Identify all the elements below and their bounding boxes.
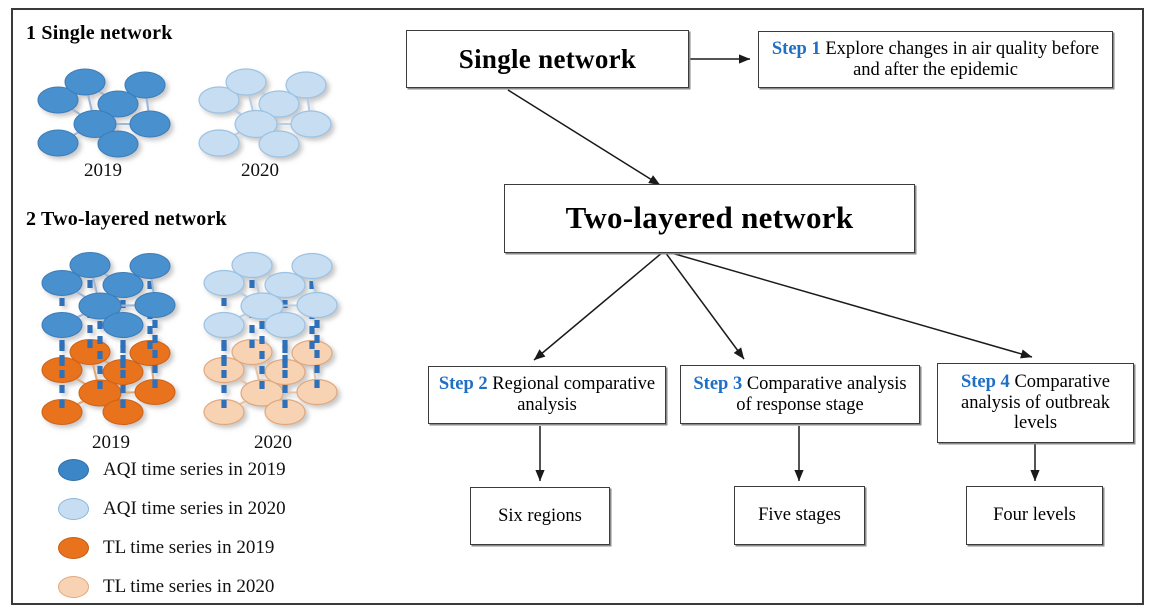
step3-number: Step 3 — [693, 374, 742, 394]
box-four-levels[interactable]: Four levels — [966, 486, 1103, 545]
legend-label-aqi-2020: AQI time series in 2020 — [103, 498, 286, 520]
legend-label-tl-2019: TL time series in 2019 — [103, 537, 274, 559]
legend-swatch-tl-2020 — [58, 576, 89, 598]
box-five-stages[interactable]: Five stages — [734, 486, 865, 545]
year-label-single-2019: 2019 — [58, 160, 148, 182]
step2-text: Regional comparative analysis — [488, 374, 655, 415]
year-label-layered-2020: 2020 — [228, 432, 318, 454]
step4-number: Step 4 — [961, 372, 1010, 392]
box-six-regions[interactable]: Six regions — [470, 487, 610, 545]
section-title-two-layered-network: 2 Two-layered network — [26, 208, 227, 231]
box-step4[interactable]: Step 4 Comparative analysis of outbreak … — [937, 363, 1134, 443]
figure-root: 1 Single network 2 Two-layered network 2… — [0, 0, 1160, 613]
step1-text: Explore changes in air quality before an… — [821, 39, 1099, 80]
legend-item-aqi-2019: AQI time series in 2019 — [58, 459, 286, 481]
box-two-layered-network[interactable]: Two-layered network — [504, 184, 915, 253]
legend-item-aqi-2020: AQI time series in 2020 — [58, 498, 286, 520]
year-label-layered-2019: 2019 — [66, 432, 156, 454]
step1-number: Step 1 — [772, 39, 821, 59]
box-step1[interactable]: Step 1 Explore changes in air quality be… — [758, 31, 1113, 88]
step2-number: Step 2 — [439, 374, 488, 394]
year-label-single-2020: 2020 — [215, 160, 305, 182]
step3-text: Comparative analysis of response stage — [736, 374, 906, 415]
box-single-network[interactable]: Single network — [406, 30, 689, 88]
legend-swatch-aqi-2019 — [58, 459, 89, 481]
section-title-single-network: 1 Single network — [26, 22, 173, 45]
legend-swatch-tl-2019 — [58, 537, 89, 559]
legend-label-tl-2020: TL time series in 2020 — [103, 576, 274, 598]
box-step3[interactable]: Step 3 Comparative analysis of response … — [680, 365, 920, 424]
legend-label-aqi-2019: AQI time series in 2019 — [103, 459, 286, 481]
legend-item-tl-2020: TL time series in 2020 — [58, 576, 274, 598]
legend-swatch-aqi-2020 — [58, 498, 89, 520]
box-step2[interactable]: Step 2 Regional comparative analysis — [428, 366, 666, 424]
legend-item-tl-2019: TL time series in 2019 — [58, 537, 274, 559]
